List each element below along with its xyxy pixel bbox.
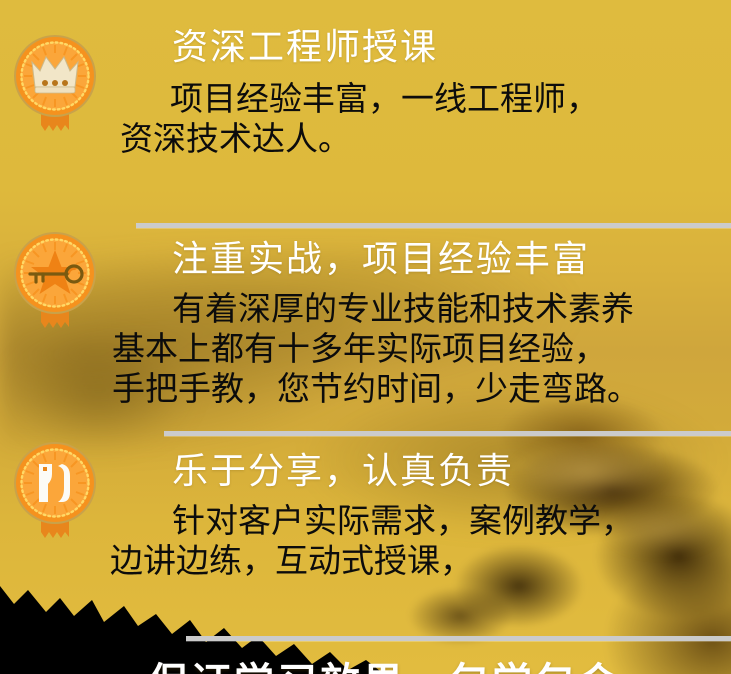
section-2-body-line-3: 手把手教，您节约时间，少走弯路。 [112,369,731,409]
section-1-body-line-1: 项目经验丰富，一线工程师， [120,79,731,119]
promo-poster: 资深工程师授课 项目经验丰富，一线工程师， 资深技术达人。 注重实战，项目经验丰… [0,0,731,674]
divider-section-2-3 [164,431,731,436]
section-2-body-line-1: 有着深厚的专业技能和技术素养 [120,289,731,329]
section-2-body-line-2: 基本上都有十多年实际项目经验， [112,329,731,369]
divider-section-1-2 [136,223,731,228]
section-3-body-line-2: 边讲边练，互动式授课， [110,541,731,581]
feature-section-1: 资深工程师授课 项目经验丰富，一线工程师， 资深技术达人。 [120,28,731,159]
crown-medal-icon [12,33,98,137]
section-2-body: 有着深厚的专业技能和技术素养 基本上都有十多年实际项目经验， 手把手教，您节约时… [120,289,731,410]
section-3-heading: 乐于分享，认真负责 [120,452,731,491]
feature-section-3: 乐于分享，认真负责 针对客户实际需求，案例教学， 边讲边练，互动式授课， [120,452,731,581]
section-3-body-line-1: 针对客户实际需求，案例教学， [120,501,731,541]
divider-section-3-footer [186,636,731,641]
section-3-body: 针对客户实际需求，案例教学， 边讲边练，互动式授课， [120,501,731,582]
horse-medal-icon [12,440,98,544]
footer-slogan: 保证学习效果，包学包会 [148,650,621,674]
feature-section-2: 注重实战，项目经验丰富 有着深厚的专业技能和技术素养 基本上都有十多年实际项目经… [120,240,731,410]
section-1-heading: 资深工程师授课 [120,28,731,67]
section-1-body: 项目经验丰富，一线工程师， 资深技术达人。 [120,79,731,160]
key-star-medal-icon [12,230,98,334]
section-1-body-line-2: 资深技术达人。 [120,119,731,159]
section-2-heading: 注重实战，项目经验丰富 [120,240,731,279]
